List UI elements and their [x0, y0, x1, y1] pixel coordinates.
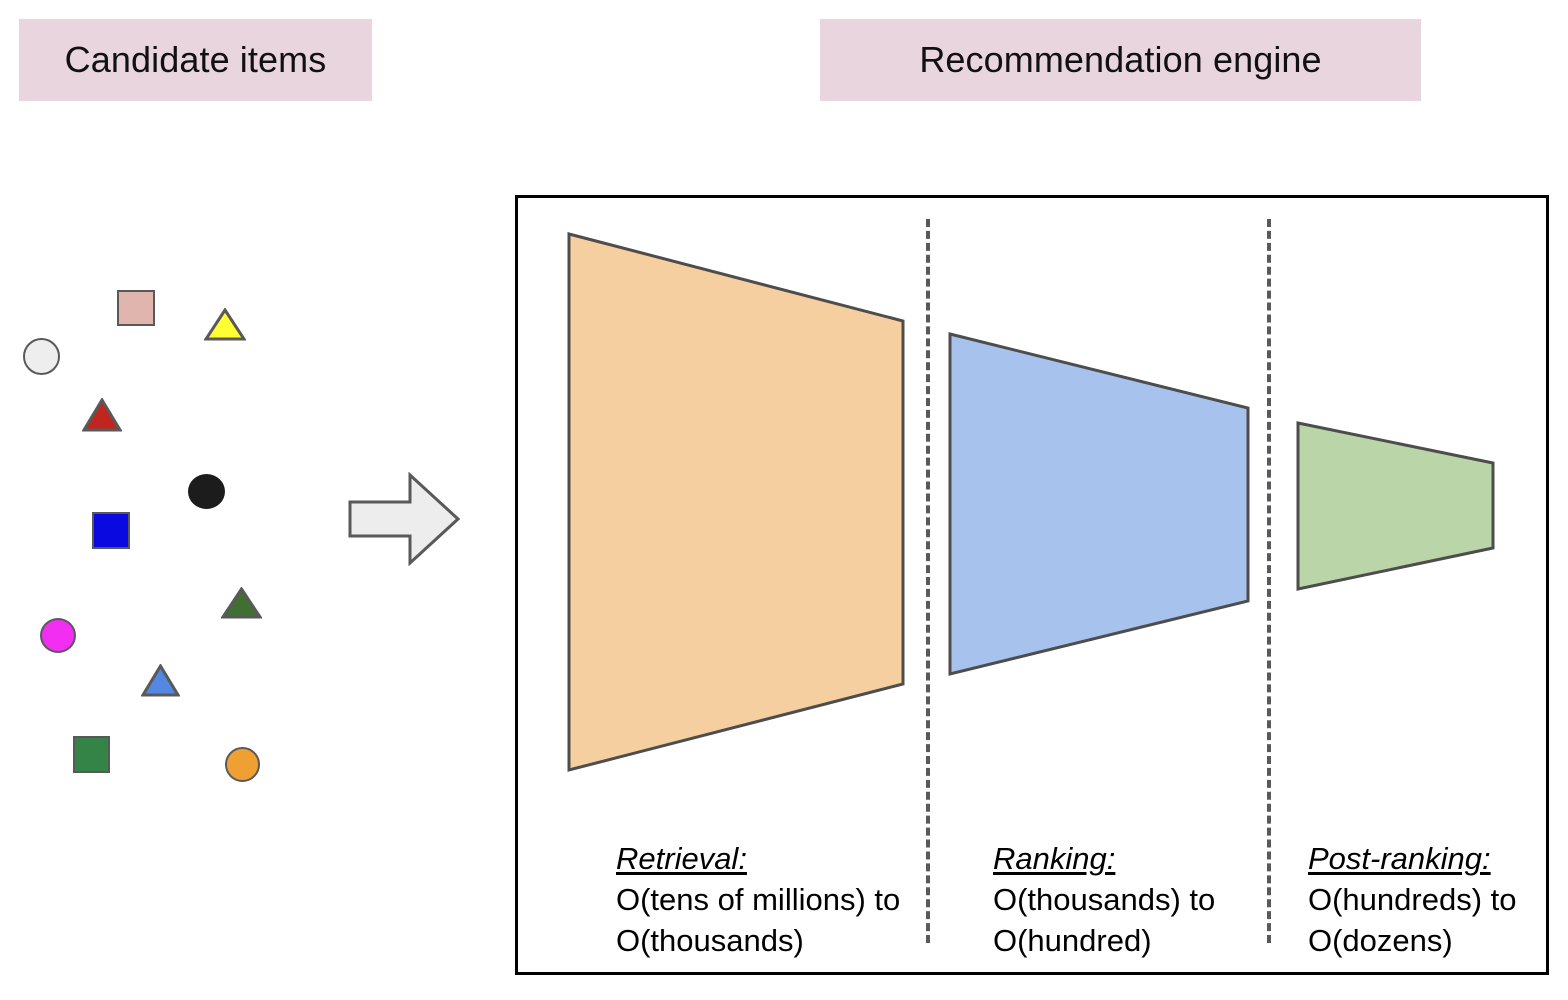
- stage-caption-retrieval: Retrieval: O(tens of millions) to O(thou…: [616, 838, 900, 962]
- recommendation-engine-panel: Retrieval: O(tens of millions) to O(thou…: [515, 195, 1549, 975]
- stage-title-ranking: Ranking:: [993, 838, 1215, 879]
- stage-line2-retrieval: O(thousands): [616, 920, 900, 961]
- stage-title-post-ranking: Post-ranking:: [1308, 838, 1517, 879]
- black-circle-shape: [188, 474, 225, 509]
- stage-divider-retrieval-ranking: [926, 219, 930, 943]
- funnel-ranking: [950, 334, 1248, 674]
- recommendation-engine-banner: Recommendation engine: [820, 19, 1421, 101]
- yellow-triangle-shape: [204, 308, 246, 341]
- stage-line2-post-ranking: O(dozens): [1308, 920, 1517, 961]
- funnel-retrieval: [569, 234, 903, 770]
- red-triangle-shape: [82, 398, 122, 432]
- light-gray-circle-shape: [23, 338, 60, 375]
- flow-arrow-icon: [348, 472, 460, 566]
- green-square-shape: [73, 736, 110, 773]
- stage-line1-ranking: O(thousands) to: [993, 879, 1215, 920]
- recommendation-engine-banner-label: Recommendation engine: [919, 39, 1321, 81]
- magenta-circle-shape: [40, 618, 76, 653]
- blue-triangle-shape: [141, 664, 180, 697]
- stage-line1-retrieval: O(tens of millions) to: [616, 879, 900, 920]
- funnel-post-ranking: [1298, 423, 1493, 589]
- pink-square-shape: [117, 290, 155, 326]
- stage-caption-post-ranking: Post-ranking: O(hundreds) to O(dozens): [1308, 838, 1517, 962]
- stage-title-retrieval: Retrieval:: [616, 838, 900, 879]
- stage-line2-ranking: O(hundred): [993, 920, 1215, 961]
- orange-circle-shape: [225, 747, 260, 782]
- blue-square-shape: [92, 512, 130, 549]
- stage-line1-post-ranking: O(hundreds) to: [1308, 879, 1517, 920]
- stage-divider-ranking-postranking: [1267, 219, 1271, 943]
- dark-green-triangle-shape: [221, 587, 262, 619]
- stage-caption-ranking: Ranking: O(thousands) to O(hundred): [993, 838, 1215, 962]
